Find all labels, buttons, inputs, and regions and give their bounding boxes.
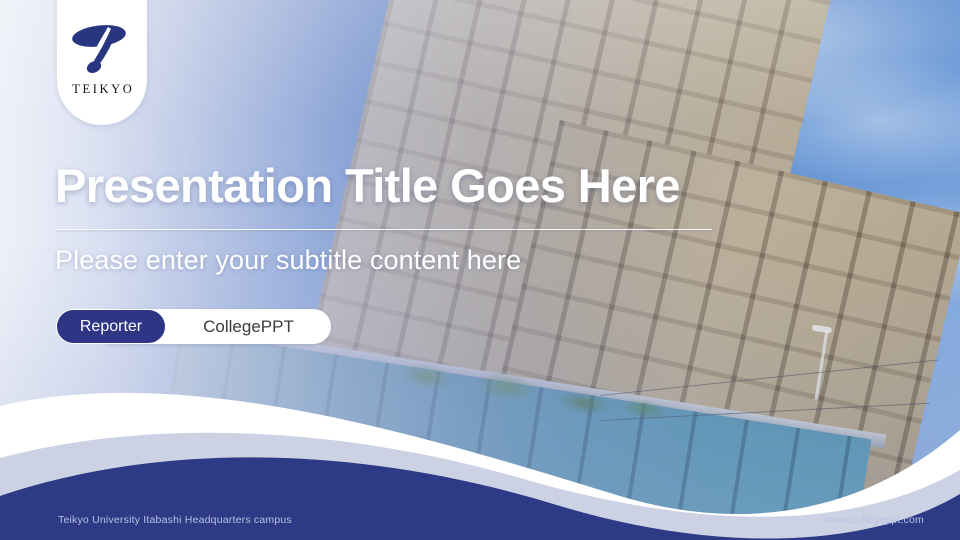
reporter-value[interactable]: CollegePPT <box>166 309 331 344</box>
page-subtitle: Please enter your subtitle content here <box>55 245 521 276</box>
footer-caption: Teikyo University Itabashi Headquarters … <box>58 514 292 526</box>
presentation-slide: TEIKYO Presentation Title Goes Here Plea… <box>0 0 960 540</box>
reporter-field[interactable]: Reporter CollegePPT <box>56 309 331 344</box>
footer-website[interactable]: www.collegeppt.com <box>825 514 924 526</box>
teikyo-wordmark: TEIKYO <box>57 82 147 97</box>
bottom-wave-decoration <box>0 310 960 540</box>
page-title: Presentation Title Goes Here <box>55 158 680 213</box>
reporter-label: Reporter <box>56 309 166 344</box>
teikyo-swoosh-logo <box>68 20 136 78</box>
teikyo-logo-badge: TEIKYO <box>57 0 147 125</box>
title-divider <box>56 229 712 230</box>
